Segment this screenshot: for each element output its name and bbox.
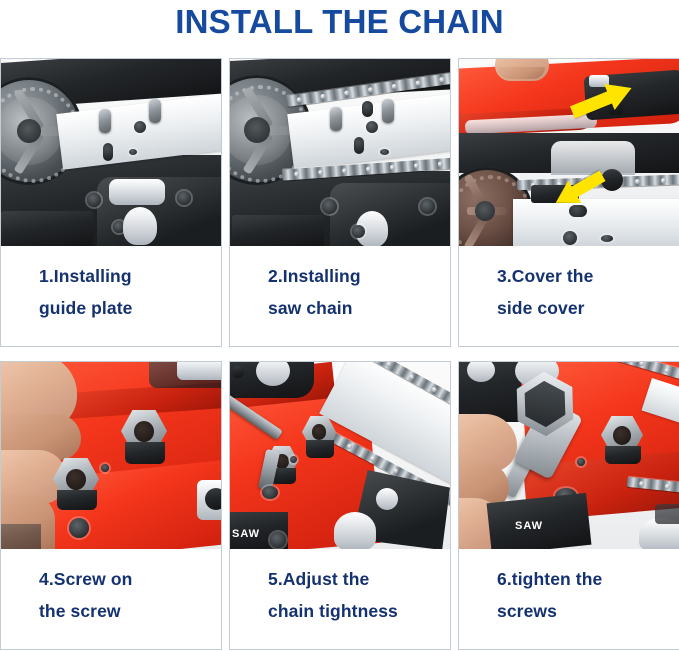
step-photo-6: SAW bbox=[459, 362, 679, 549]
step-caption-5: 5.Adjust the chain tightness bbox=[230, 549, 450, 649]
step-photo-3 bbox=[459, 59, 679, 246]
step-photo-2 bbox=[230, 59, 450, 246]
step-caption-3-line1: 3.Cover the bbox=[497, 266, 593, 286]
step-card-1: 1.Installing guide plate bbox=[0, 58, 222, 347]
step-photo-4 bbox=[1, 362, 221, 549]
body-label-5: SAW bbox=[232, 528, 260, 540]
step-caption-1: 1.Installing guide plate bbox=[1, 246, 221, 346]
step-caption-4-line2: the screw bbox=[39, 595, 221, 627]
body-label-6: SAW bbox=[515, 520, 543, 532]
step-caption-6-line2: screws bbox=[497, 595, 679, 627]
step-caption-3: 3.Cover the side cover bbox=[459, 246, 679, 346]
step-caption-6: 6.tighten the screws bbox=[459, 549, 679, 649]
step-caption-1-line1: 1.Installing bbox=[39, 266, 132, 286]
step-card-3: 3.Cover the side cover bbox=[458, 58, 679, 347]
page-title: INSTALL THE CHAIN bbox=[0, 2, 679, 42]
step-photo-5: SAW bbox=[230, 362, 450, 549]
step-card-5: SAW 5.Adjust the chain tightness bbox=[229, 361, 451, 650]
step-card-6: SAW 6.tighten the screws bbox=[458, 361, 679, 650]
instruction-poster: INSTALL THE CHAIN bbox=[0, 0, 679, 651]
step-caption-2-line1: 2.Installing bbox=[268, 266, 361, 286]
step-caption-5-line1: 5.Adjust the bbox=[268, 569, 369, 589]
step-caption-5-line2: chain tightness bbox=[268, 595, 450, 627]
step-caption-3-line2: side cover bbox=[497, 292, 679, 324]
step-caption-2-line2: saw chain bbox=[268, 292, 450, 324]
step-caption-6-line1: 6.tighten the bbox=[497, 569, 602, 589]
step-caption-4-line1: 4.Screw on bbox=[39, 569, 132, 589]
step-caption-2: 2.Installing saw chain bbox=[230, 246, 450, 346]
step-card-2: 2.Installing saw chain bbox=[229, 58, 451, 347]
step-caption-1-line2: guide plate bbox=[39, 292, 221, 324]
step-photo-1 bbox=[1, 59, 221, 246]
step-card-4: 4.Screw on the screw bbox=[0, 361, 222, 650]
step-caption-4: 4.Screw on the screw bbox=[1, 549, 221, 649]
steps-grid: 1.Installing guide plate bbox=[0, 58, 679, 650]
